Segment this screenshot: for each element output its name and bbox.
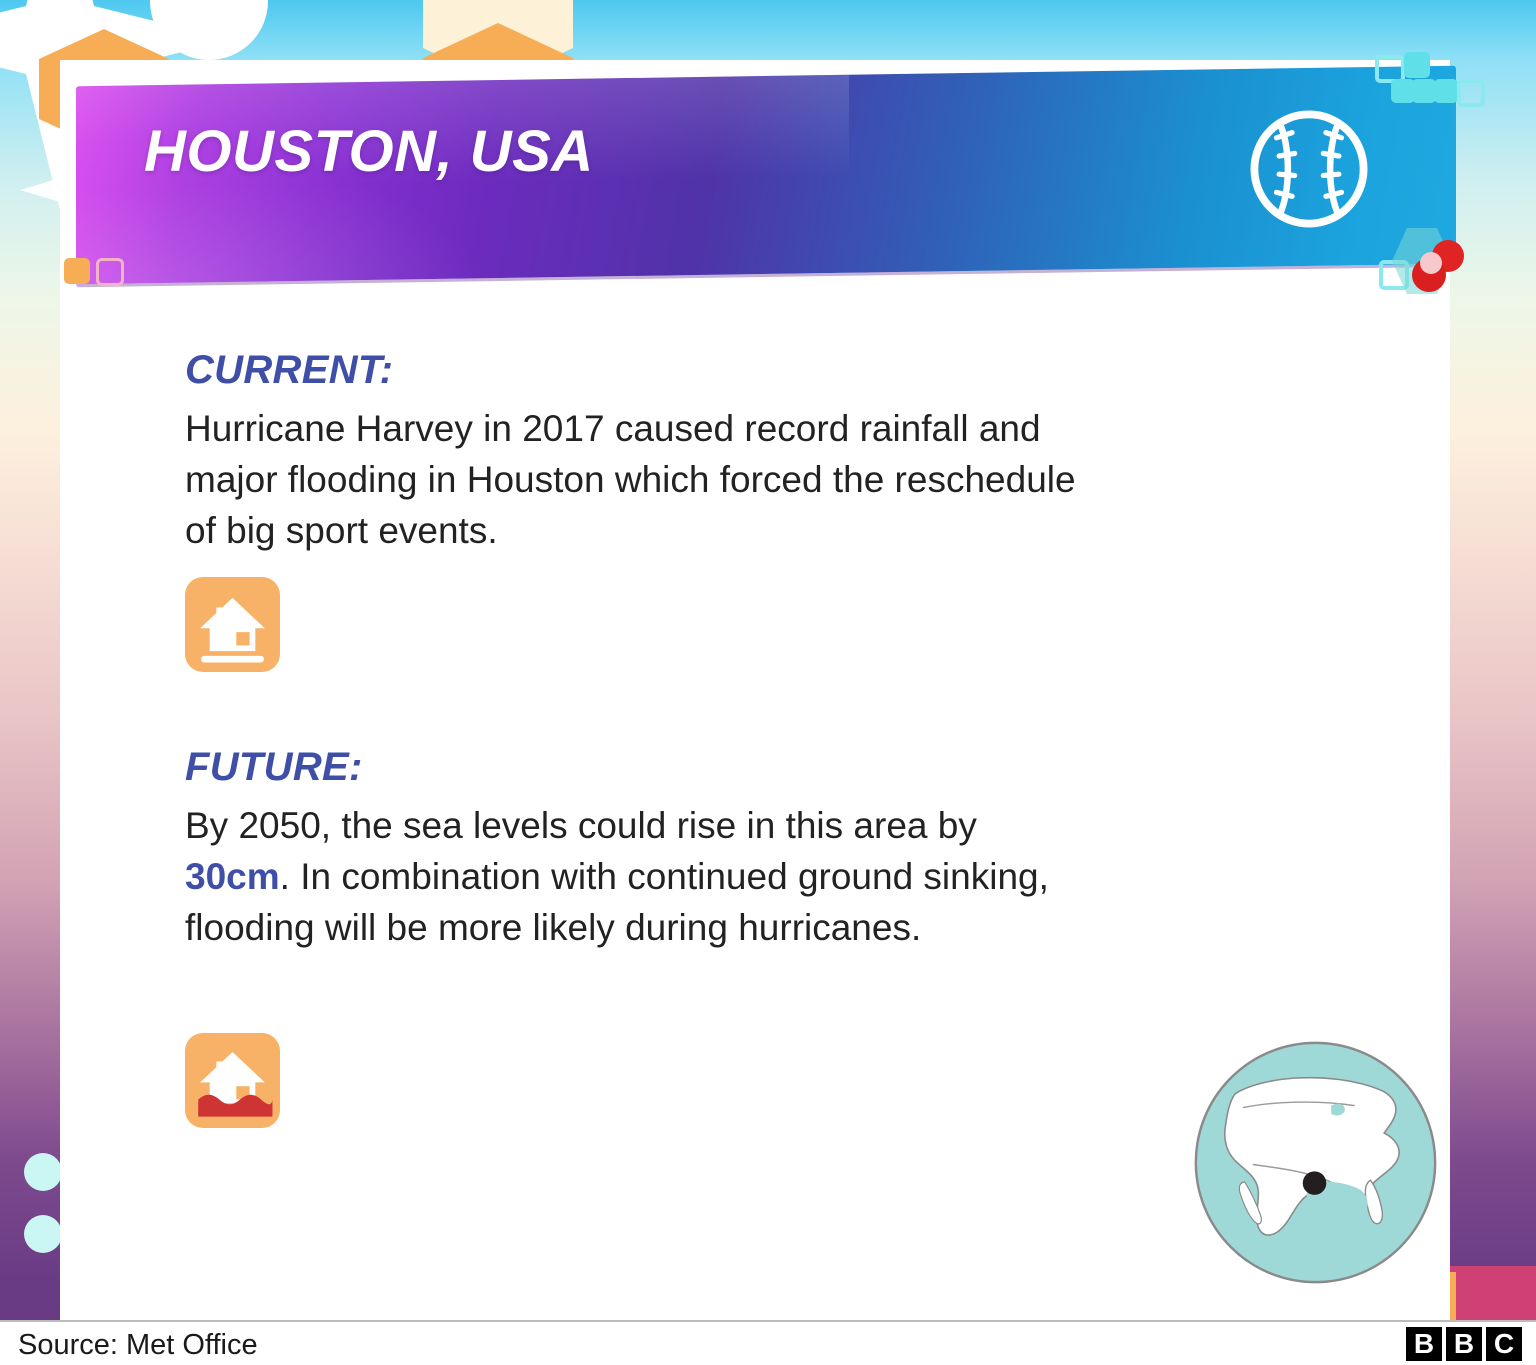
title-banner: HOUSTON, USA [76,66,1462,284]
footer: Source: Met Office B B C [0,1320,1536,1365]
future-body-after: . In combination with continued ground s… [185,856,1049,948]
sea-level-rise-value: 30cm [185,856,280,897]
baseball-icon [1244,104,1374,234]
dot-decoration [24,1153,62,1191]
square-decoration [96,258,124,286]
current-heading: CURRENT: [185,348,1085,393]
square-decoration [64,258,90,284]
source-label: Source: Met Office [18,1329,258,1362]
page-title: HOUSTON, USA [144,118,594,185]
square-decoration [1412,79,1436,103]
north-america-globe [1188,1035,1443,1290]
blob-decoration [1420,252,1442,274]
bbc-letter: B [1406,1327,1442,1361]
flooded-house-icon [185,1033,280,1128]
square-decoration [1457,79,1485,107]
section-current: CURRENT: Hurricane Harvey in 2017 caused… [185,348,1085,556]
future-heading: FUTURE: [185,745,1085,790]
location-marker [1303,1171,1327,1195]
bbc-letter: C [1486,1327,1522,1361]
section-future: FUTURE: By 2050, the sea levels could ri… [185,745,1085,953]
future-body: By 2050, the sea levels could rise in th… [185,800,1085,953]
bbc-letter: B [1446,1327,1482,1361]
infographic-root: HOUSTON, USA CURREN [0,0,1536,1365]
square-decoration [1434,79,1458,103]
square-decoration [1404,52,1430,78]
current-body: Hurricane Harvey in 2017 caused record r… [185,403,1085,556]
dot-decoration [24,1215,62,1253]
bbc-logo: B B C [1406,1327,1522,1361]
future-body-before: By 2050, the sea levels could rise in th… [185,805,977,846]
house-icon [185,577,280,672]
